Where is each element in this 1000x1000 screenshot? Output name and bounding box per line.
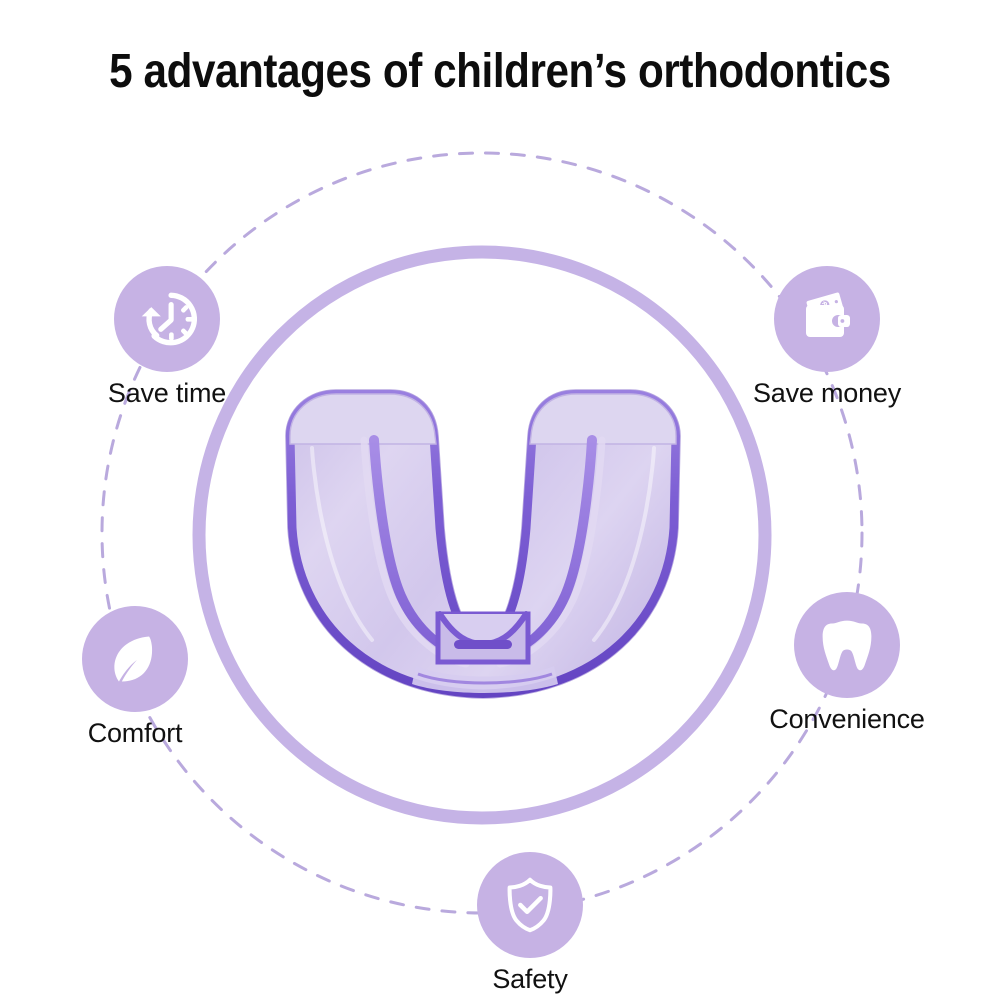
feature-comfort[interactable]: Comfort [40,606,230,749]
feature-label-safety: Safety [435,964,625,995]
tooth-icon [817,613,877,677]
product-image-mouthguard [268,378,698,708]
feature-label-convenience: Convenience [752,704,942,735]
feature-label-save-time: Save time [72,378,262,409]
feature-safety[interactable]: Safety [435,852,625,995]
clock-rotate-arrow-icon [134,286,200,352]
feature-convenience[interactable]: Convenience [752,592,942,735]
feature-save-money[interactable]: Save money [732,266,922,409]
shield-check-icon [499,874,561,936]
feature-save-time[interactable]: Save time [72,266,262,409]
feature-badge-convenience [794,592,900,698]
feature-badge-save-money [774,266,880,372]
feature-badge-comfort [82,606,188,712]
feature-label-comfort: Comfort [40,718,230,749]
feature-badge-save-time [114,266,220,372]
leaf-icon [105,629,165,689]
feature-label-save-money: Save money [732,378,922,409]
feature-badge-safety [477,852,583,958]
wallet-money-icon [795,287,859,351]
infographic-canvas: 5 advantages of children’s orthodontics [0,0,1000,1000]
page-title: 5 advantages of children’s orthodontics [60,44,940,99]
